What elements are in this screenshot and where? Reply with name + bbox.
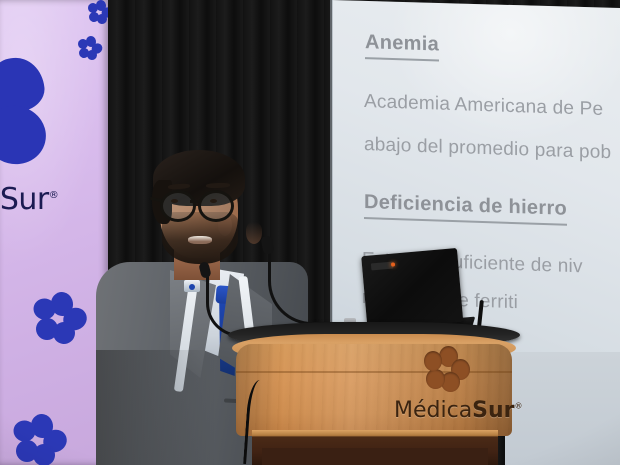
photo-scene: Anemia Academia Americana de Pe abajo de… — [0, 0, 620, 465]
slide-body-line-1: Academia Americana de Pe — [364, 91, 603, 121]
eyeglasses-icon — [158, 190, 244, 216]
slide-heading-deficiencia-de-hierro: Deficiencia de hierro — [364, 191, 567, 226]
lectern-wordmark: MédicaSur® — [394, 398, 524, 423]
lectern-wordmark-suffix: Sur — [472, 398, 514, 423]
medicasur-flower-logo-icon-4 — [88, 0, 108, 24]
lectern-seam — [236, 371, 512, 373]
medicasur-banner: caSur® — [0, 0, 108, 465]
eyeglasses-lens-left — [160, 190, 196, 222]
laptop-lid — [361, 248, 463, 330]
medicasur-flower-logo-icon-3 — [14, 414, 66, 465]
laptop-brand-badge — [371, 262, 394, 271]
microphone-gooseneck-1 — [268, 244, 353, 325]
presenter-badge-logo-icon — [189, 284, 195, 290]
eyeglasses-bridge — [190, 200, 200, 203]
medicasur-flower-logo-engraved — [424, 346, 470, 392]
lectern-foot — [262, 448, 488, 465]
slide-heading-anemia: Anemia — [365, 31, 439, 61]
laptop-power-indicator-icon — [391, 262, 395, 266]
lectern-wordmark-prefix: Médica — [394, 398, 472, 423]
presenter-arm-shadow — [96, 350, 216, 465]
medicasur-flower-logo-icon-1 — [78, 36, 102, 60]
banner-wordmark-registered: ® — [49, 190, 59, 201]
eyeglasses-lens-right — [198, 190, 234, 222]
presenter-eye-left — [171, 199, 178, 203]
presenter-nose — [246, 222, 262, 244]
banner-wordmark: caSur® — [0, 182, 108, 217]
medicasur-flower-logo-icon-2 — [34, 292, 86, 344]
presenter-mouth — [188, 236, 212, 244]
presenter-eye-right — [210, 199, 217, 203]
slide-body-line-2: abajo del promedio para pob — [364, 134, 611, 164]
lectern-wordmark-registered: ® — [515, 402, 523, 411]
banner-wordmark-text: caSur — [0, 182, 49, 217]
banner-graphics: caSur® — [0, 0, 108, 465]
medicasur-flower-logo-large — [0, 58, 68, 170]
